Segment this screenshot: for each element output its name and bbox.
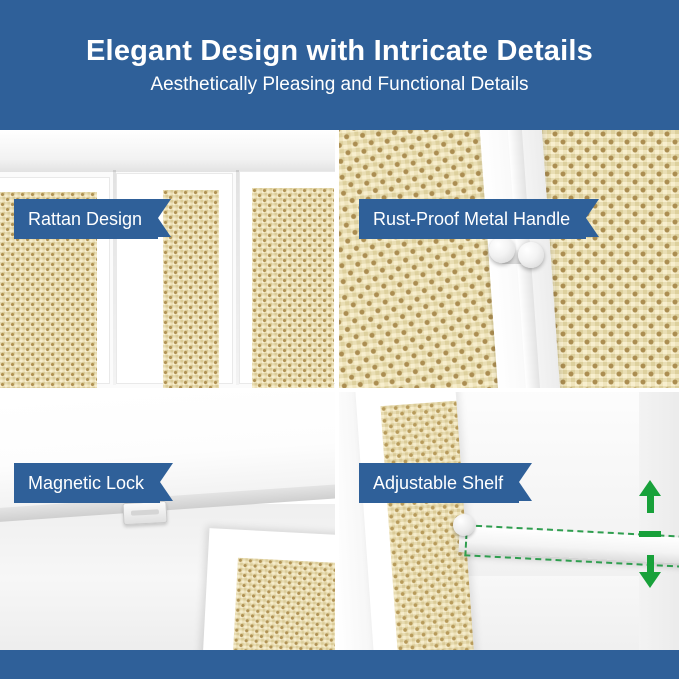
- metal-knob-icon: [518, 242, 544, 268]
- label-rust-proof-metal-handle: Rust-Proof Metal Handle: [359, 199, 586, 239]
- shelf-support-peg: [453, 514, 475, 536]
- cabinet-top-surface: [0, 130, 335, 172]
- label-rattan-design: Rattan Design: [14, 199, 158, 239]
- photo-magnetic-lock: [0, 392, 335, 650]
- door-seam-2: [236, 170, 239, 385]
- open-door: [203, 528, 335, 650]
- rattan-weave-texture: [163, 190, 219, 388]
- arrow-down-icon: [639, 555, 661, 588]
- page-title: Elegant Design with Intricate Details: [86, 35, 593, 68]
- footer-banner: [0, 650, 679, 679]
- grid-divider-horizontal: [0, 388, 679, 392]
- magnetic-lock-catch: [122, 501, 167, 525]
- arrow-divider: [639, 531, 661, 537]
- photo-metal-handle: [339, 130, 679, 388]
- header-banner: Elegant Design with Intricate Details Ae…: [0, 0, 679, 130]
- metal-knob-icon: [489, 237, 515, 263]
- product-feature-collage: Elegant Design with Intricate Details Ae…: [0, 0, 679, 679]
- rattan-weave-texture: [252, 188, 334, 388]
- label-adjustable-shelf: Adjustable Shelf: [359, 463, 519, 503]
- label-magnetic-lock: Magnetic Lock: [14, 463, 160, 503]
- rattan-weave-texture: [232, 558, 335, 650]
- rattan-door-panel-3: [240, 172, 335, 383]
- photo-rattan-design: [0, 130, 335, 388]
- arrow-up-icon: [639, 480, 661, 513]
- page-subtitle: Aesthetically Pleasing and Functional De…: [150, 74, 528, 96]
- photo-adjustable-shelf: [339, 392, 679, 650]
- shelf-adjust-arrows: [635, 480, 665, 588]
